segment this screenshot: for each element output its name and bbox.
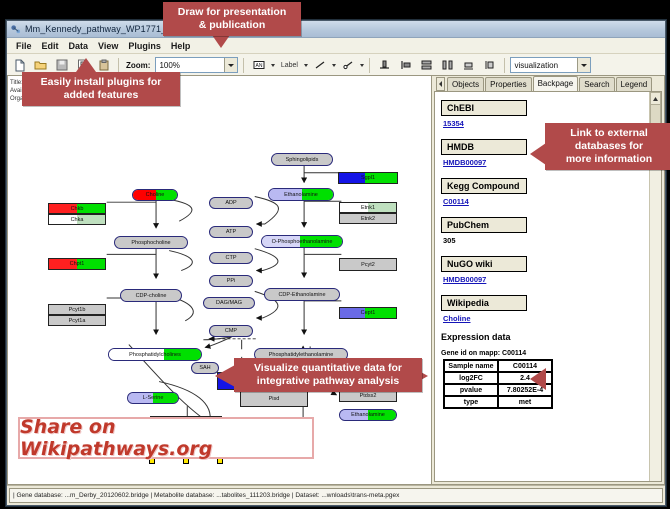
gene-node-chpt1[interactable]: Chpt1 — [48, 258, 106, 270]
metabolite-node-adp[interactable]: ADP — [209, 197, 253, 209]
gene-node-chkb[interactable]: Chkb — [48, 203, 106, 214]
side-panel-tabs[interactable]: Objects Properties Backpage Search Legen… — [432, 76, 664, 91]
node-label: Etnk1 — [361, 205, 375, 211]
line-icon[interactable] — [310, 56, 329, 75]
table-row: typemet — [444, 396, 552, 408]
node-label: Pcyt2 — [361, 262, 375, 268]
metabolite-node-sphingolipids[interactable]: Sphingolipids — [271, 153, 333, 166]
tab-search[interactable]: Search — [579, 77, 614, 91]
node-label: Ethanolamine — [284, 192, 318, 198]
backpage-link-wikipedia[interactable]: Choline — [443, 314, 649, 323]
metabolite-node-choline[interactable]: Choline — [132, 189, 178, 201]
metabolite-node-phosphocholine[interactable]: Phosphocholine — [114, 236, 188, 249]
screenshot-root: Mm_Kennedy_pathway_WP1771_45176.gpml Fil… — [0, 0, 670, 509]
backpage-section-title-wikipedia: Wikipedia — [441, 295, 527, 311]
node-label: ATP — [226, 229, 236, 235]
callout-visualize-line1: Visualize quantitative data for — [241, 362, 415, 375]
node-label: CDP-choline — [136, 293, 167, 299]
callout-plugins-line1: Easily install plugins for — [29, 76, 173, 89]
callout-visualize: Visualize quantitative data for integrat… — [234, 358, 422, 392]
zoom-label: Zoom: — [126, 61, 150, 70]
callout-visualize-line2: integrative pathway analysis — [241, 375, 415, 388]
size-width-icon[interactable] — [459, 56, 478, 75]
distribute-vertical-icon[interactable] — [417, 56, 436, 75]
datanode-icon[interactable]: AN — [249, 56, 268, 75]
node-label: Phosphatidylcholines — [129, 352, 181, 358]
backpage-value-pubchem: 305 — [443, 236, 649, 245]
status-text: | Gene database: ...m_Derby_20120602.bri… — [9, 488, 663, 503]
gene-node-etnk1[interactable]: Etnk1 — [339, 202, 397, 213]
node-label: ADP — [225, 200, 236, 206]
visualization-dropdown-arrow[interactable] — [577, 58, 590, 72]
node-label: Chpt1 — [70, 261, 85, 267]
toolbar-separator-2 — [243, 58, 244, 73]
expression-row-label: Sample name — [444, 360, 498, 372]
metabolite-node-ethanolamine[interactable]: Ethanolamine — [268, 188, 334, 201]
gene-node-pisd[interactable]: Pisd — [240, 391, 308, 407]
callout-draw-arrow — [212, 35, 230, 48]
node-label: CDP-Ethanolamine — [278, 292, 325, 298]
callout-links-line2: databases for — [552, 140, 666, 153]
gene-node-pcyt2[interactable]: Pcyt2 — [339, 258, 397, 271]
metabolite-node-l-serine[interactable]: L-Serine — [127, 392, 179, 404]
node-label: SAH — [199, 365, 210, 371]
metabolite-node-cdp-ethanolamine[interactable]: CDP-Ethanolamine — [264, 288, 340, 301]
tab-properties[interactable]: Properties — [485, 77, 531, 91]
node-label: Sgpl1 — [361, 175, 375, 181]
menu-file[interactable]: File — [11, 41, 37, 51]
menu-help[interactable]: Help — [166, 41, 196, 51]
node-label: Chkb — [71, 206, 84, 212]
backpage-section-title-chebi: ChEBI — [441, 100, 527, 116]
callout-plugins-line2: added features — [29, 89, 173, 102]
node-label: L-Serine — [143, 395, 164, 401]
callout-links-line3: more information — [552, 153, 666, 166]
expression-row-label: pvalue — [444, 384, 498, 396]
node-label: DAG/MAG — [216, 300, 242, 306]
anchor-line-icon[interactable] — [338, 56, 357, 75]
gene-node-chka[interactable]: Chka — [48, 214, 106, 225]
callout-draw-line1: Draw for presentation — [170, 6, 294, 19]
zoom-combobox[interactable]: 100% — [155, 57, 238, 73]
menu-data[interactable]: Data — [64, 41, 94, 51]
gene-node-etnk2[interactable]: Etnk2 — [339, 213, 397, 224]
tab-objects[interactable]: Objects — [447, 77, 484, 91]
callout-share: Share on Wikipathways.org — [18, 417, 314, 459]
anchor-dropdown-arrow[interactable] — [360, 64, 364, 67]
node-label: Pcyt1a — [69, 318, 86, 324]
callout-expression-arrow — [530, 368, 546, 390]
align-left-icon[interactable] — [396, 56, 415, 75]
backpage-section-title-hmdb: HMDB — [441, 139, 527, 155]
node-label: CMP — [225, 328, 237, 334]
line-dropdown-arrow[interactable] — [332, 64, 336, 67]
gene-node-cept1[interactable]: Cept1 — [339, 307, 397, 319]
node-label: O-Phosphoethanolamine — [272, 239, 333, 245]
gene-id-label: Gene id on mapp: C00114 — [441, 350, 649, 357]
expression-data-heading: Expression data — [441, 332, 649, 342]
node-label: Chka — [71, 217, 84, 223]
backpage-section-title-nugo-wiki: NuGO wiki — [441, 256, 527, 272]
node-label: Pisd — [269, 396, 280, 402]
distribute-horizontal-icon[interactable] — [438, 56, 457, 75]
node-label: Phosphatidylethanolamine — [269, 352, 334, 358]
callout-links-arrow — [530, 143, 546, 165]
gene-node-pcyt1b[interactable]: Pcyt1b — [48, 304, 106, 315]
node-label: Etnk2 — [361, 216, 375, 222]
backpage-section-title-pubchem: PubChem — [441, 217, 527, 233]
visualization-combobox[interactable]: visualization — [510, 57, 591, 73]
menu-plugins[interactable]: Plugins — [123, 41, 166, 51]
node-label: Phosphocholine — [131, 240, 170, 246]
node-label: PPi — [227, 278, 236, 284]
label-button-text: Label — [281, 62, 298, 69]
toolbar-separator-3 — [369, 58, 370, 73]
node-label: Ethanolamine — [351, 412, 385, 418]
gene-node-pcyt1a[interactable]: Pcyt1a — [48, 315, 106, 326]
metabolite-node-ctp[interactable]: CTP — [209, 252, 253, 264]
visualization-value: visualization — [514, 61, 558, 70]
node-label: Choline — [146, 192, 165, 198]
tab-backpage[interactable]: Backpage — [533, 76, 579, 91]
tab-legend[interactable]: Legend — [616, 77, 653, 91]
metabolite-node-ethanolamine[interactable]: Ethanolamine — [339, 409, 397, 421]
zoom-value: 100% — [159, 61, 179, 70]
callout-plugins-arrow — [76, 58, 96, 72]
node-label: Cept1 — [361, 310, 376, 316]
callout-draw-line2: & publication — [170, 19, 294, 32]
node-label: Pcyt1b — [69, 307, 86, 313]
datanode-dropdown-arrow[interactable] — [271, 64, 275, 67]
gene-node-sgpl1[interactable]: Sgpl1 — [338, 172, 398, 184]
zoom-dropdown-arrow[interactable] — [224, 58, 237, 72]
statusbar: | Gene database: ...m_Derby_20120602.bri… — [7, 485, 665, 505]
metabolite-node-atp[interactable]: ATP — [209, 226, 253, 238]
size-height-icon[interactable] — [480, 56, 499, 75]
metabolite-node-cdp-choline[interactable]: CDP-choline — [120, 289, 182, 302]
menubar[interactable]: File Edit Data View Plugins Help — [7, 38, 665, 54]
expression-row-label: type — [444, 396, 498, 408]
callout-links-line1: Link to external — [552, 127, 666, 140]
callout-plugins: Easily install plugins for added feature… — [22, 72, 180, 106]
tab-scroll-left[interactable] — [436, 77, 445, 91]
align-top-icon[interactable] — [375, 56, 394, 75]
metabolite-node-o-phosphoethanolamine[interactable]: O-Phosphoethanolamine — [261, 235, 343, 248]
callout-links: Link to external databases for more info… — [545, 123, 670, 170]
backpage-link-nugo-wiki[interactable]: HMDB00097 — [443, 275, 649, 284]
metabolite-node-ppi[interactable]: PPi — [209, 275, 253, 287]
window-titlebar: Mm_Kennedy_pathway_WP1771_45176.gpml — [7, 21, 665, 38]
expression-row-value: met — [498, 396, 552, 408]
node-label: Ptdss2 — [360, 393, 377, 399]
node-label: CTP — [226, 255, 237, 261]
label-dropdown-arrow[interactable] — [304, 64, 308, 67]
callout-share-text: Share on Wikipathways.org — [20, 416, 312, 460]
expression-row-label: log2FC — [444, 372, 498, 384]
callout-draw: Draw for presentation & publication — [163, 2, 301, 36]
metabolite-node-cmp[interactable]: CMP — [209, 325, 253, 337]
toolbar-separator-4 — [504, 58, 505, 73]
menu-view[interactable]: View — [93, 41, 123, 51]
svg-text:AN: AN — [255, 63, 262, 69]
backpage-section-title-kegg-compound: Kegg Compound — [441, 178, 527, 194]
metabolite-node-dag-mag[interactable]: DAG/MAG — [203, 297, 255, 309]
pathvisio-icon — [10, 24, 21, 35]
backpage-link-kegg-compound[interactable]: C00114 — [443, 197, 649, 206]
toolbar-separator-1 — [118, 58, 119, 73]
label-icon[interactable]: Label — [277, 56, 301, 75]
metabolite-node-phosphatidylcholines[interactable]: Phosphatidylcholines — [108, 348, 202, 361]
callout-visualize-arrow — [215, 365, 235, 387]
menu-edit[interactable]: Edit — [37, 41, 64, 51]
node-label: Sphingolipids — [286, 157, 319, 163]
